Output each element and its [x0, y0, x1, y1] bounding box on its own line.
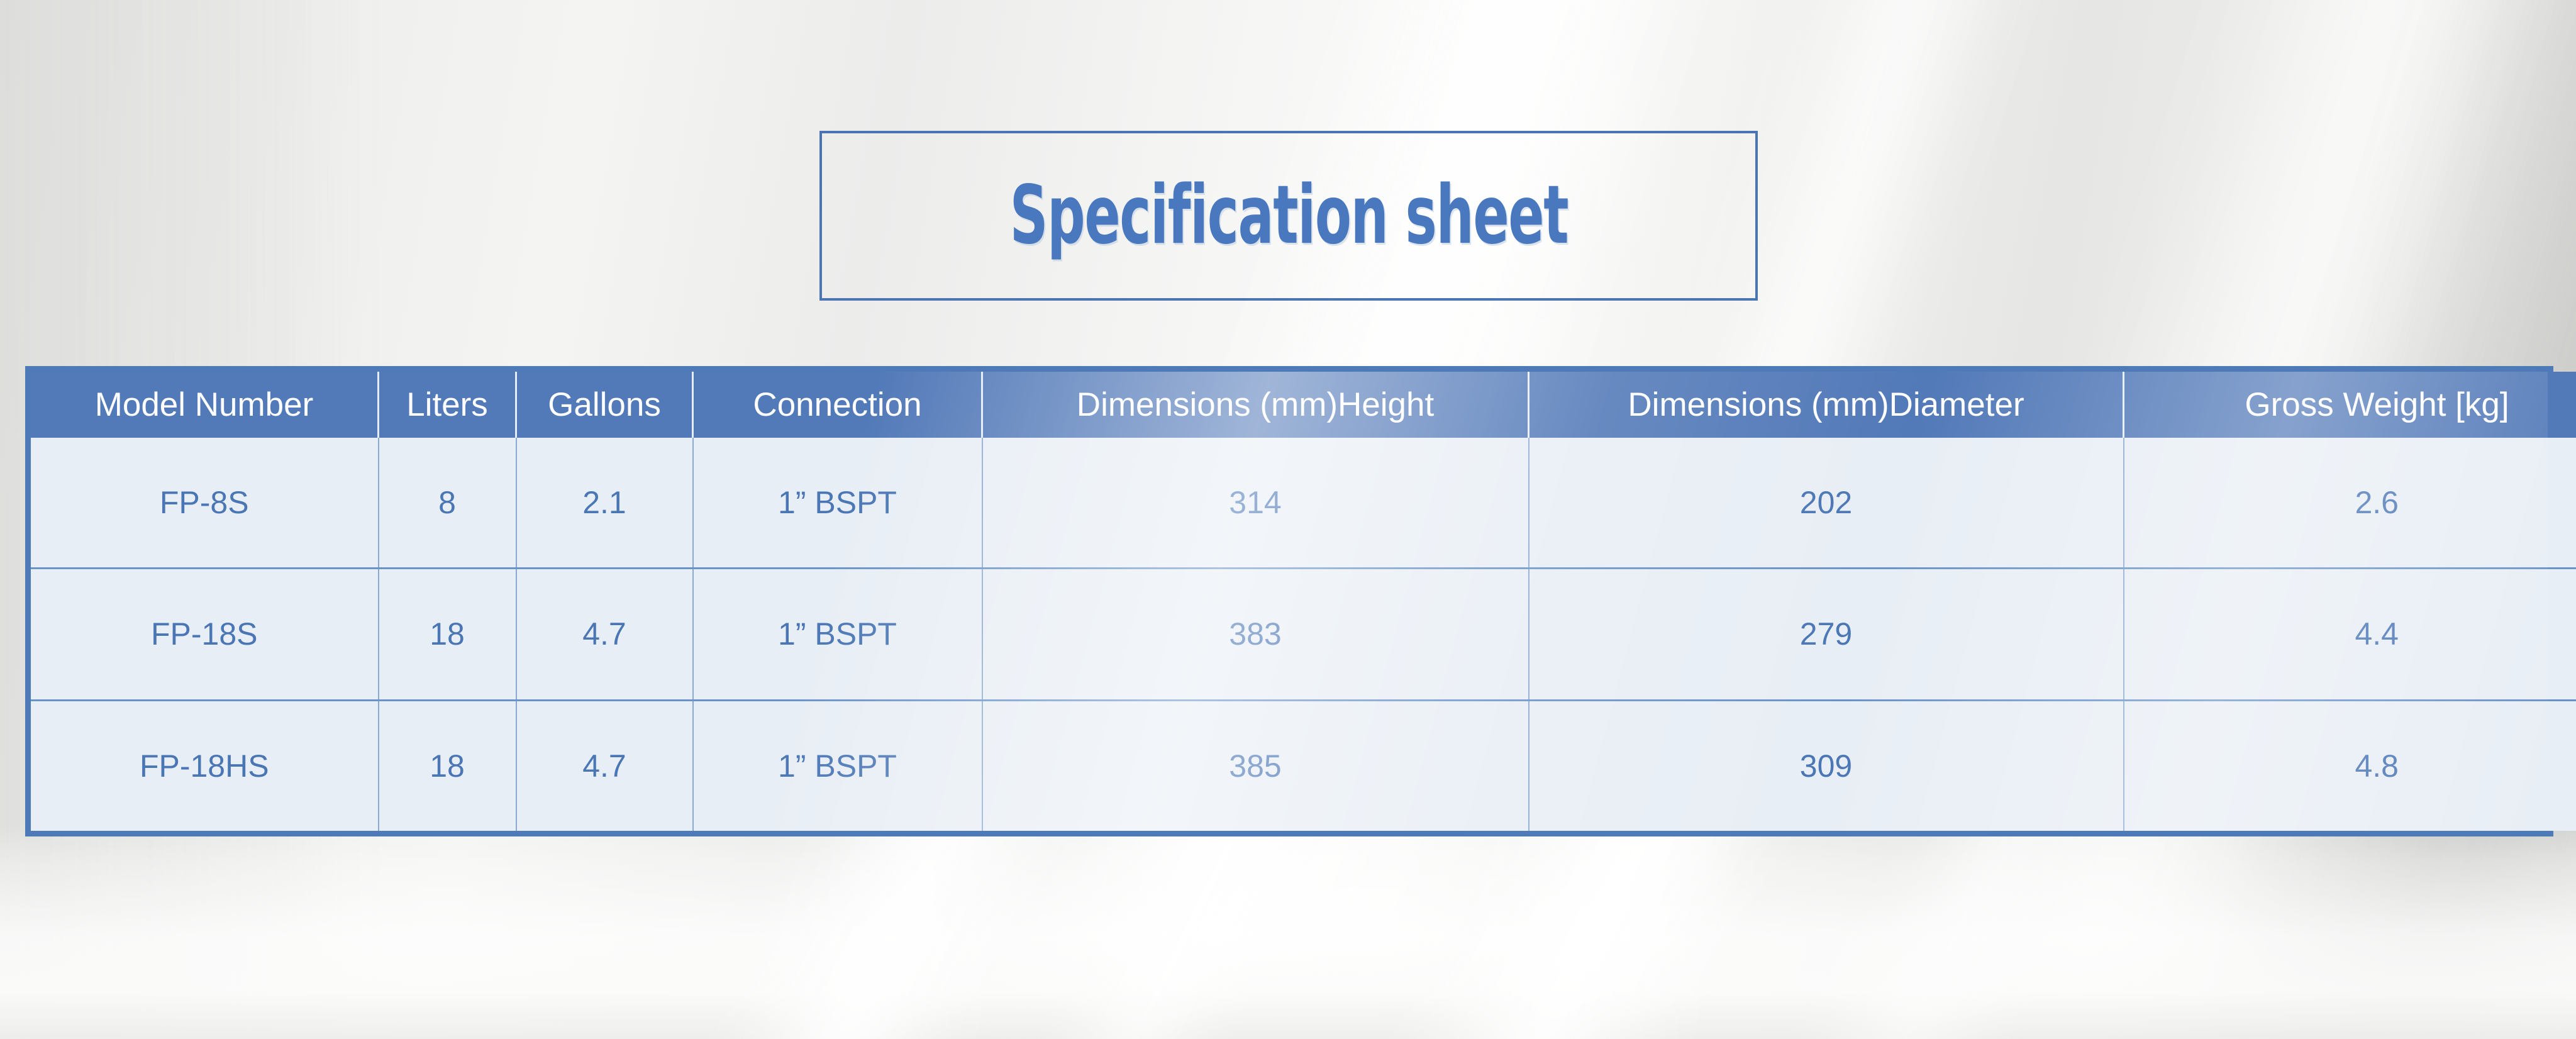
cell-diameter: 279: [1529, 569, 2124, 700]
cell-model-number: FP-18S: [31, 569, 379, 700]
column-header-liters: Liters: [379, 372, 516, 438]
cell-model-number: FP-8S: [31, 438, 379, 569]
specification-table: Model Number Liters Gallons Connection D…: [31, 372, 2576, 831]
cell-gross-weight: 4.4: [2124, 569, 2576, 700]
cell-height: 383: [982, 569, 1529, 700]
column-header-model-number: Model Number: [31, 372, 379, 438]
cell-liters: 18: [379, 700, 516, 831]
column-header-connection: Connection: [693, 372, 982, 438]
column-header-dimensions-height: Dimensions (mm)Height: [982, 372, 1529, 438]
background-floor-streak-1: [588, 824, 1123, 1039]
cell-connection: 1” BSPT: [693, 700, 982, 831]
specification-sheet-slide: Specification sheet Model Number Liters …: [0, 0, 2576, 1039]
cell-gallons: 4.7: [516, 569, 693, 700]
column-header-gallons: Gallons: [516, 372, 693, 438]
table-header-row: Model Number Liters Gallons Connection D…: [31, 372, 2576, 438]
cell-gallons: 4.7: [516, 700, 693, 831]
cell-gallons: 2.1: [516, 438, 693, 569]
background-floor-streak-3: [1269, 824, 1838, 1039]
table-body: FP-8S 8 2.1 1” BSPT 314 202 2.6 FP-18S 1…: [31, 438, 2576, 831]
cell-diameter: 202: [1529, 438, 2124, 569]
table-header: Model Number Liters Gallons Connection D…: [31, 372, 2576, 438]
cell-height: 385: [982, 700, 1529, 831]
cell-gross-weight: 2.6: [2124, 438, 2576, 569]
column-header-dimensions-diameter: Dimensions (mm)Diameter: [1529, 372, 2124, 438]
cell-diameter: 309: [1529, 700, 2124, 831]
title-box: Specification sheet: [819, 131, 1758, 301]
cell-gross-weight: 4.8: [2124, 700, 2576, 831]
cell-model-number: FP-18HS: [31, 700, 379, 831]
specification-table-container: Model Number Liters Gallons Connection D…: [25, 366, 2553, 836]
cell-connection: 1” BSPT: [693, 438, 982, 569]
table-row: FP-18HS 18 4.7 1” BSPT 385 309 4.8: [31, 700, 2576, 831]
table-row: FP-18S 18 4.7 1” BSPT 383 279 4.4: [31, 569, 2576, 700]
page-title: Specification sheet: [1009, 175, 1568, 256]
cell-liters: 18: [379, 569, 516, 700]
background-floor-glow: [0, 824, 2576, 1039]
column-header-gross-weight: Gross Weight [kg]: [2124, 372, 2576, 438]
cell-height: 314: [982, 438, 1529, 569]
cell-connection: 1” BSPT: [693, 569, 982, 700]
cell-liters: 8: [379, 438, 516, 569]
table-row: FP-8S 8 2.1 1” BSPT 314 202 2.6: [31, 438, 2576, 569]
